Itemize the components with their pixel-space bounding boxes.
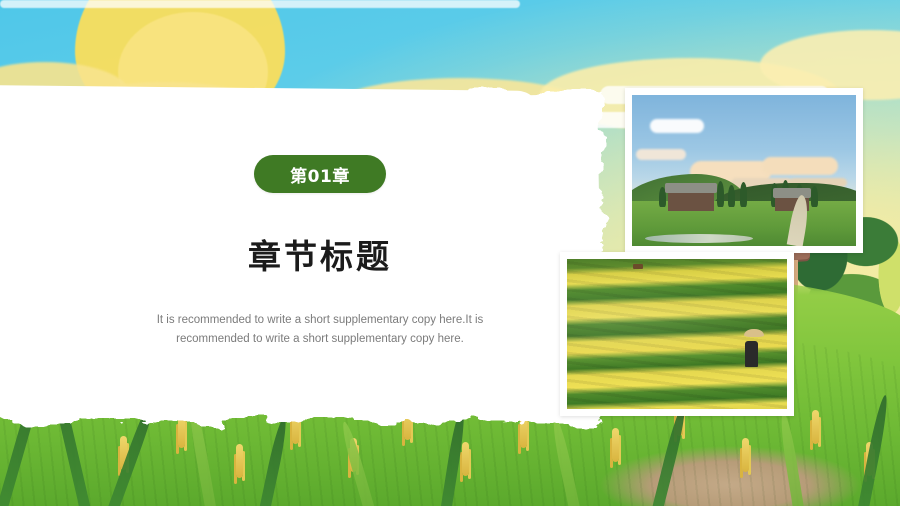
countryside-barns-photo[interactable] [625,88,863,253]
pine-tree-icon [740,182,747,207]
stream [645,234,753,243]
cloud-icon [650,119,704,133]
photo-image [567,259,787,409]
rice-ear-icon [812,410,819,444]
barn-roof [665,183,717,193]
farmer-figure [745,341,758,367]
barn-roof [773,188,811,198]
distant-vehicle [633,264,643,269]
cloud-icon [762,157,838,175]
chapter-number-badge[interactable]: 第01章 [254,155,386,193]
rice-ear-icon [742,438,749,472]
rapeseed-field-photo[interactable] [560,252,794,416]
chapter-title: 章节标题 [248,230,392,278]
chapter-content-block: 第01章 章节标题 It is recommended to write a s… [0,0,640,506]
pine-tree-icon [717,181,724,207]
chapter-description: It is recommended to write a short suppl… [134,311,506,348]
straw-hat-icon [744,329,764,337]
cloud-icon [636,149,685,160]
barn-building [668,191,714,211]
slide-canvas: 第01章 章节标题 It is recommended to write a s… [0,0,900,506]
pine-tree-icon [811,186,818,207]
photo-image [632,95,856,246]
